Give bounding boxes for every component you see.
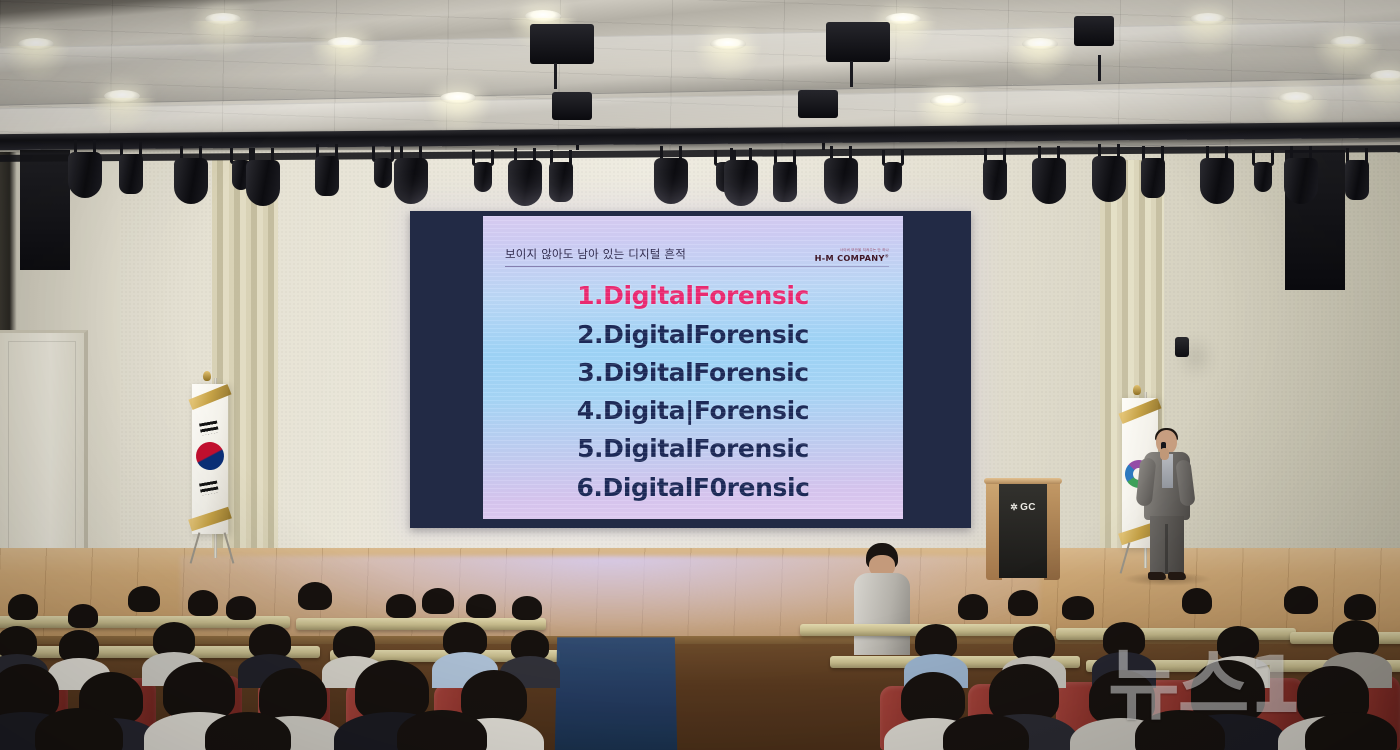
audience-member <box>226 596 256 622</box>
ceiling-fixture-5 <box>798 90 838 118</box>
downlight <box>1370 70 1400 82</box>
stage-light <box>1204 146 1230 200</box>
audience-member <box>1182 588 1212 616</box>
slide-list-item: 5.DigitalForensic <box>577 434 809 463</box>
audience-member <box>8 594 38 622</box>
downlight <box>205 13 241 25</box>
audience-member <box>1284 586 1318 616</box>
presentation-slide: 보이지 않아도 남아 있는 디지털 흔적 사이버 보안을 지켜주는 단 하나 H… <box>483 216 903 519</box>
audience-member <box>466 594 496 620</box>
projection-screen-frame: 보이지 않아도 남아 있는 디지털 흔적 사이버 보안을 지켜주는 단 하나 H… <box>410 211 971 528</box>
stage-light <box>1250 150 1276 204</box>
audience-member <box>1344 594 1376 622</box>
stage-light <box>548 150 574 204</box>
item-number: 1. <box>577 281 603 310</box>
news-watermark: 뉴스1 <box>1108 636 1368 736</box>
audience-member <box>958 594 988 622</box>
audience-member <box>298 582 332 612</box>
item-text: Di9italForensic <box>603 358 808 387</box>
wall-speaker-icon <box>1175 337 1189 357</box>
slide-list-item: 2.DigitalForensic <box>577 320 809 349</box>
stage-light <box>1288 146 1314 200</box>
item-text: DigitalF0rensic <box>603 473 810 502</box>
ceiling-fixture-4 <box>552 92 592 120</box>
stage-light <box>728 148 754 202</box>
podium-logo-text: GC <box>1020 502 1036 513</box>
downlight <box>710 38 746 50</box>
item-number: 6. <box>576 473 602 502</box>
aisle-carpet <box>555 637 677 750</box>
stage-light <box>1096 144 1122 198</box>
stage-light <box>982 148 1008 202</box>
item-text: DigitalForensic <box>603 320 809 349</box>
slide-header: 보이지 않아도 남아 있는 디지털 흔적 사이버 보안을 지켜주는 단 하나 H… <box>505 232 889 262</box>
stage-light <box>178 146 204 200</box>
downlight <box>1278 92 1314 104</box>
stage-light <box>1140 146 1166 200</box>
item-number: 5. <box>577 434 603 463</box>
audience-member <box>938 714 1034 750</box>
audience-member <box>1008 590 1038 618</box>
downlight <box>930 95 966 107</box>
auditorium-photo: 보이지 않아도 남아 있는 디지털 흔적 사이버 보안을 지켜주는 단 하나 H… <box>0 0 1400 750</box>
slide-body-list: 1.DigitalForensic 2.DigitalForensic 3.Di… <box>483 272 903 511</box>
stage-light <box>658 146 684 200</box>
stage-light <box>118 142 144 196</box>
slide-title: 보이지 않아도 남아 있는 디지털 흔적 <box>505 246 686 262</box>
slide-list-item: 3.Di9italForensic <box>577 358 808 387</box>
downlight <box>327 37 363 49</box>
audience-member <box>1062 596 1094 622</box>
downlight <box>18 38 54 50</box>
audience-member <box>128 586 160 614</box>
ceiling-projector-1 <box>530 24 594 64</box>
downlight <box>440 92 476 104</box>
ceiling-projector-3 <box>1074 16 1114 46</box>
logo-name: H-M COMPANY® <box>815 254 889 262</box>
stage-light <box>772 150 798 204</box>
downlight <box>885 13 921 25</box>
downlight <box>104 90 140 102</box>
downlight <box>1022 38 1058 50</box>
flag-stand-left <box>192 532 232 562</box>
flag-left <box>192 384 228 534</box>
logo-trademark: ® <box>885 253 889 258</box>
podium-logo: ✲GC <box>986 502 1060 513</box>
audience-member <box>392 710 492 750</box>
item-text: DigitalForensic <box>603 281 809 310</box>
logo-tagline: 사이버 보안을 지켜주는 단 하나 <box>815 249 889 252</box>
downlight <box>525 10 561 22</box>
item-number: 3. <box>577 358 603 387</box>
stage-light <box>1036 146 1062 200</box>
audience-member <box>188 590 218 618</box>
downlight <box>1330 36 1366 48</box>
stage-light <box>72 140 98 194</box>
company-logo: 사이버 보안을 지켜주는 단 하나 H-M COMPANY® <box>815 249 889 262</box>
stage-light <box>314 144 340 198</box>
pa-speaker-left <box>20 150 70 270</box>
slide-list-item: 1.DigitalForensic <box>577 281 809 310</box>
item-number: 4. <box>577 396 603 425</box>
audience-member <box>512 596 542 622</box>
item-number: 2. <box>577 320 603 349</box>
item-text: Digita|Forensic <box>603 396 809 425</box>
stage-light <box>370 146 396 200</box>
stage-light <box>828 146 854 200</box>
ceiling-projector-2 <box>826 22 890 62</box>
slide-list-item: 4.Digita|Forensic <box>577 396 809 425</box>
stage-light <box>398 146 424 200</box>
slide-divider <box>505 266 889 267</box>
item-text: DigitalForensic <box>603 434 809 463</box>
side-door[interactable] <box>0 330 88 575</box>
audience-member <box>68 604 98 630</box>
audience-member <box>30 708 128 750</box>
stage-light <box>250 148 276 202</box>
podium-top <box>984 478 1062 484</box>
audience-member <box>386 594 416 620</box>
audience-member <box>200 712 296 750</box>
podium-logo-mark: ✲ <box>1010 502 1018 513</box>
slide-list-item: 6.DigitalF0rensic <box>576 473 809 502</box>
downlight <box>1190 13 1226 25</box>
stage-light <box>1344 148 1370 202</box>
audience-member <box>422 588 454 616</box>
stage-light <box>470 150 496 204</box>
stage-light <box>880 150 906 204</box>
stage-light <box>512 148 538 202</box>
